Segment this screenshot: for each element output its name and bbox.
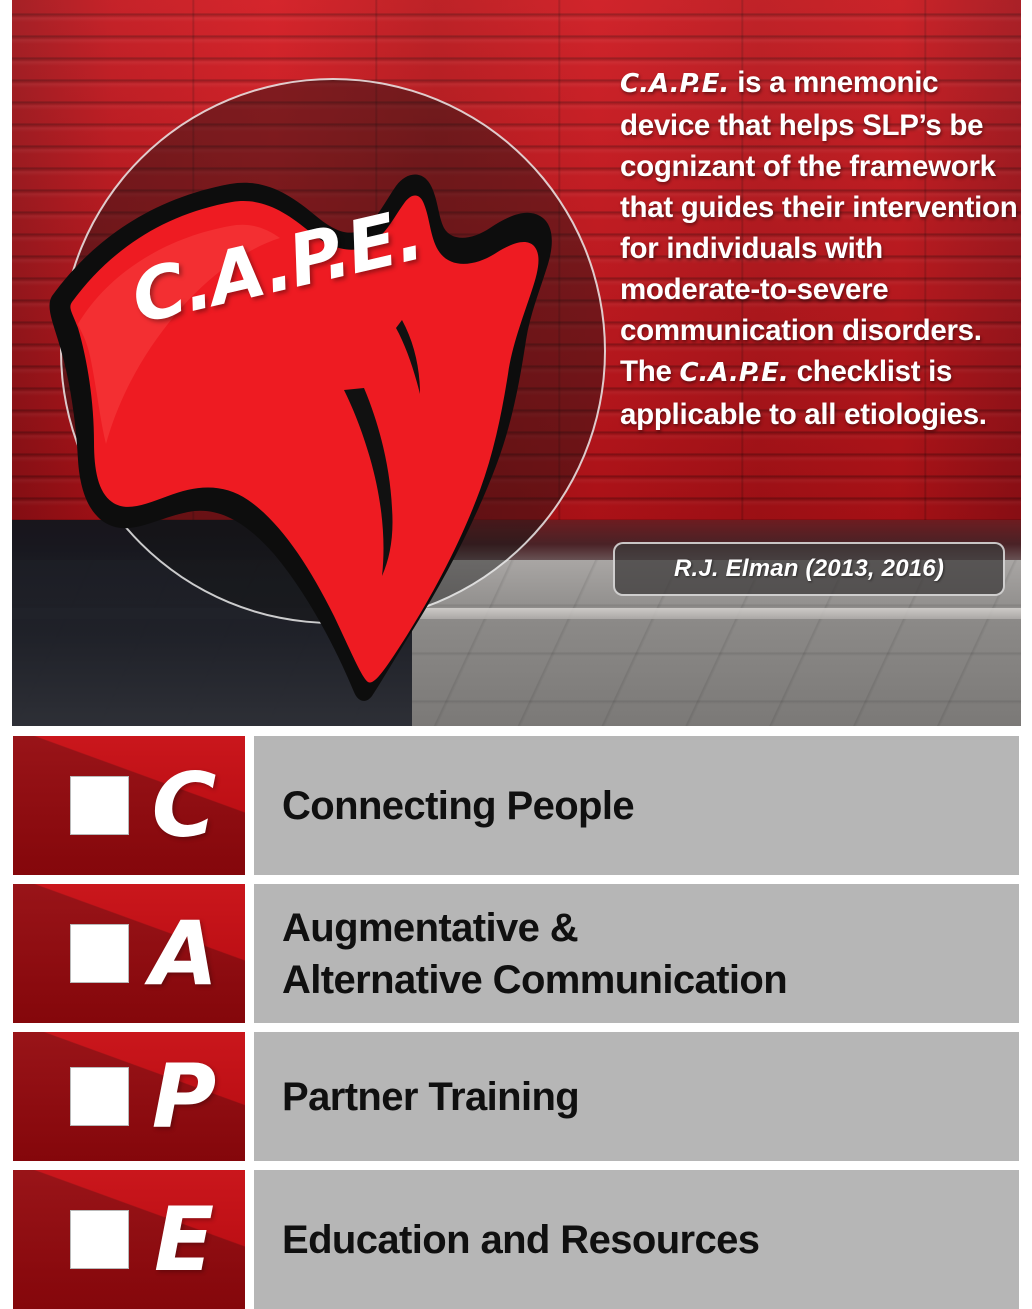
tile-letter-p: P — [129, 1053, 245, 1141]
hero-line-9: applicable to all etiologies. — [620, 394, 1020, 435]
checklist-row[interactable]: E Education and Resources — [13, 1170, 1019, 1309]
row-label-text: Connecting People — [282, 780, 634, 832]
tile-letter-a: A — [129, 910, 245, 998]
hero-banner: C.A.P.E. C.A.P.E. is a mnemonic device t… — [12, 0, 1021, 726]
hero-line-4: that guides their intervention — [620, 187, 1020, 228]
hero-line-8-lead: The — [620, 355, 672, 388]
row-label-connecting-people: Connecting People — [254, 736, 1019, 875]
hero-line-8: checklist is — [797, 355, 952, 388]
row-label-education-and-resources: Education and Resources — [254, 1170, 1019, 1309]
checkbox-e[interactable] — [70, 1210, 129, 1269]
row-label-text: Augmentative & Alternative Communication — [282, 902, 787, 1006]
checklist-row[interactable]: C Connecting People — [13, 736, 1019, 875]
row-label-partner-training: Partner Training — [254, 1032, 1019, 1161]
hero-line-6: moderate-to-severe — [620, 269, 1020, 310]
checkbox-p[interactable] — [70, 1067, 129, 1126]
row-label-text: Partner Training — [282, 1071, 579, 1123]
cape-infographic: C.A.P.E. C.A.P.E. is a mnemonic device t… — [0, 0, 1032, 1306]
letter-tile-e: E — [13, 1170, 245, 1309]
hero-line-2: device that helps SLP’s be — [620, 105, 1020, 146]
checklist-row[interactable]: A Augmentative & Alternative Communicati… — [13, 884, 1019, 1023]
hero-paragraph: C.A.P.E. is a mnemonic device that helps… — [620, 62, 1020, 435]
checkbox-c[interactable] — [70, 776, 129, 835]
letter-tile-a: A — [13, 884, 245, 1023]
hero-line-5: for individuals with — [620, 228, 1020, 269]
mnemonic-inline-1: C.A.P.E. — [620, 69, 729, 99]
row-label-text: Education and Resources — [282, 1214, 759, 1266]
hero-line-1: is a mnemonic — [737, 66, 938, 99]
mnemonic-inline-2: C.A.P.E. — [679, 358, 788, 388]
letter-tile-c: C — [13, 736, 245, 875]
letter-tile-p: P — [13, 1032, 245, 1161]
checklist-row[interactable]: P Partner Training — [13, 1032, 1019, 1161]
hero-line-3: cognizant of the framework — [620, 146, 1020, 187]
tile-letter-e: E — [129, 1196, 245, 1284]
citation-badge: R.J. Elman (2013, 2016) — [613, 542, 1005, 596]
checkbox-a[interactable] — [70, 924, 129, 983]
row-label-augmentative-alternative-communication: Augmentative & Alternative Communication — [254, 884, 1019, 1023]
cape-logo-icon — [34, 88, 614, 708]
hero-line-7: communication disorders. — [620, 310, 1020, 351]
cape-checklist: C Connecting People A Augmentative & Alt… — [13, 736, 1019, 1309]
tile-letter-c: C — [129, 762, 245, 850]
